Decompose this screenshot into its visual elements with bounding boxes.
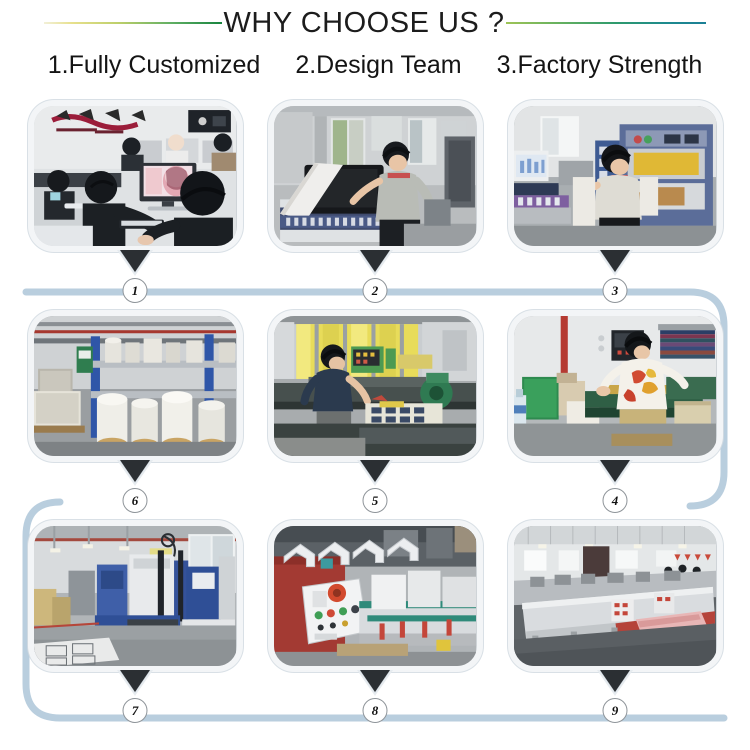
scene-press [34,526,237,666]
step-number-8: 8 [363,698,388,723]
photo-bubble-5 [268,310,483,462]
page-title: WHY CHOOSE US ? [222,8,507,38]
bubble-tail-4 [600,460,630,482]
card-1[interactable]: 1 [28,100,243,300]
photo-bubble-7 [28,520,243,672]
photo-3 [514,106,717,246]
page-header: WHY CHOOSE US ? 1.Fully Customized 2.Des… [0,0,750,92]
bubble-tail-6 [120,460,150,482]
photo-bubble-4 [508,310,723,462]
photo-4 [514,316,717,456]
scene-flatbed [274,106,477,246]
step-number-7: 7 [123,698,148,723]
subtitle-row: 1.Fully Customized 2.Design Team 3.Facto… [0,47,750,83]
bubble-tail-5 [360,460,390,482]
step-number-6: 6 [123,488,148,513]
step-number-5: 5 [363,488,388,513]
photo-9 [514,526,717,666]
title-rule-left [44,22,222,24]
row-3: 7 [0,520,750,720]
scene-rolls [34,316,237,456]
title-row: WHY CHOOSE US ? [0,6,750,40]
photo-7 [34,526,237,666]
card-9[interactable]: 9 [508,520,723,720]
card-4[interactable]: 4 [508,310,723,510]
photo-8 [274,526,477,666]
bubble-tail-8 [360,670,390,692]
subtitle-item-3: 3.Factory Strength [497,50,703,80]
card-6[interactable]: 6 [28,310,243,510]
photo-bubble-8 [268,520,483,672]
card-3[interactable]: 3 [508,100,723,300]
photo-6 [34,316,237,456]
row-1: 1 [0,100,750,300]
photo-bubble-9 [508,520,723,672]
scene-office [34,106,237,246]
scene-crease [514,316,717,456]
scene-diecut [514,106,717,246]
card-2[interactable]: 2 [268,100,483,300]
photo-bubble-6 [28,310,243,462]
bubble-tail-7 [120,670,150,692]
step-number-4: 4 [603,488,628,513]
scene-line [514,526,717,666]
photo-bubble-3 [508,100,723,252]
scene-laminate [274,316,477,456]
bubble-tail-1 [120,250,150,272]
step-number-2: 2 [363,278,388,303]
card-5[interactable]: 5 [268,310,483,510]
bubble-tail-2 [360,250,390,272]
title-rule-right [506,22,706,24]
photo-5 [274,316,477,456]
row-2: 6 [0,310,750,510]
step-number-1: 1 [123,278,148,303]
subtitle-item-1: 1.Fully Customized [48,50,261,80]
step-number-9: 9 [603,698,628,723]
photo-1 [34,106,237,246]
bubble-tail-3 [600,250,630,272]
scene-gluer [274,526,477,666]
bubble-tail-9 [600,670,630,692]
photo-bubble-2 [268,100,483,252]
photo-bubble-1 [28,100,243,252]
card-8[interactable]: 8 [268,520,483,720]
card-7[interactable]: 7 [28,520,243,720]
step-number-3: 3 [603,278,628,303]
subtitle-item-2: 2.Design Team [295,50,461,80]
photo-2 [274,106,477,246]
